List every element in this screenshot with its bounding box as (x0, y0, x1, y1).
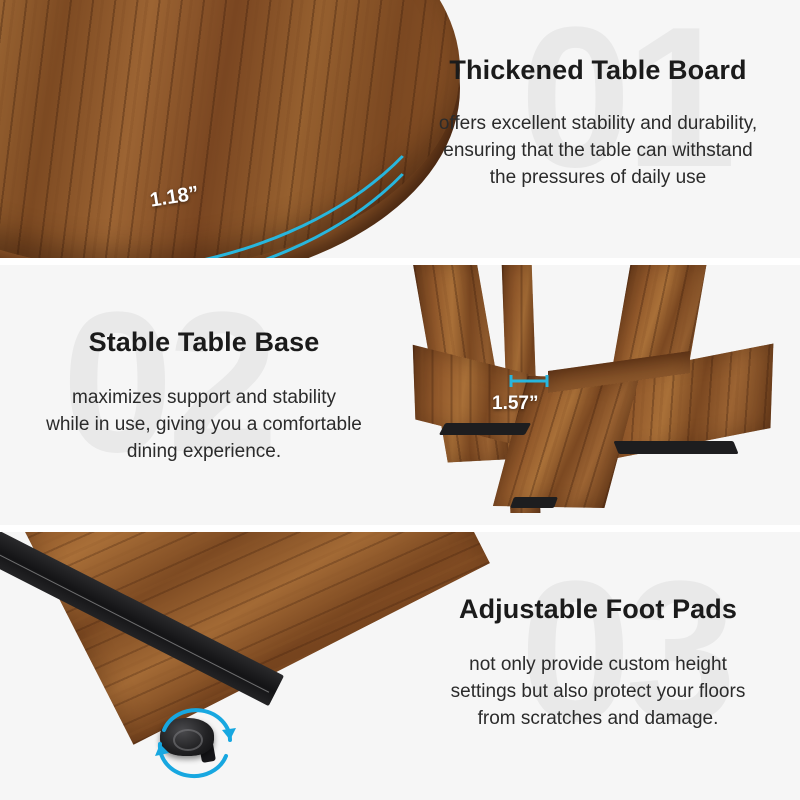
feature-panel-01: 01 1.18” Thickened Table Board offers ex… (0, 0, 800, 258)
feature-body-03: not only provide custom height settings … (400, 651, 796, 732)
feature-body-line: dining experience. (8, 438, 400, 465)
foot-cap-left (439, 423, 531, 435)
feature-body-line: not only provide custom height (400, 651, 796, 678)
table-base-photo: 1.57” (420, 265, 800, 525)
feature-body-02: maximizes support and stability while in… (8, 384, 400, 465)
foot-cap-right (613, 441, 738, 454)
foot-pad-photo (0, 532, 430, 800)
feature-panel-02: 02 1.57” (0, 265, 800, 525)
feature-panel-03: 03 Adjustable Foot Pads not only provide… (0, 532, 800, 800)
feature-body-line: settings but also protect your floors (400, 678, 796, 705)
feature-title-01: Thickened Table Board (400, 55, 796, 86)
feature-body-line: the pressures of daily use (400, 164, 796, 191)
rotation-arrow-icon (138, 700, 248, 796)
feature-body-line: offers excellent stability and durabilit… (400, 110, 796, 137)
dimension-label-base-thickness: 1.57” (492, 393, 538, 415)
panel-divider (0, 258, 800, 265)
feature-body-line: maximizes support and stability (8, 384, 400, 411)
feature-body-01: offers excellent stability and durabilit… (400, 110, 796, 191)
feature-text-03: Adjustable Foot Pads not only provide cu… (400, 594, 796, 732)
feature-title-02: Stable Table Base (8, 327, 400, 358)
product-feature-infographic: 01 1.18” Thickened Table Board offers ex… (0, 0, 800, 800)
dimension-marker-icon (508, 373, 550, 389)
feature-body-line: while in use, giving you a comfortable (8, 411, 400, 438)
panel-divider (0, 525, 800, 532)
feature-title-03: Adjustable Foot Pads (400, 594, 796, 625)
foot-cap-front (510, 497, 558, 508)
feature-body-line: from scratches and damage. (400, 705, 796, 732)
table-top-photo (0, 0, 460, 258)
feature-text-01: Thickened Table Board offers excellent s… (400, 55, 796, 191)
feature-body-line: ensuring that the table can withstand (400, 137, 796, 164)
feature-text-02: Stable Table Base maximizes support and … (8, 327, 400, 465)
